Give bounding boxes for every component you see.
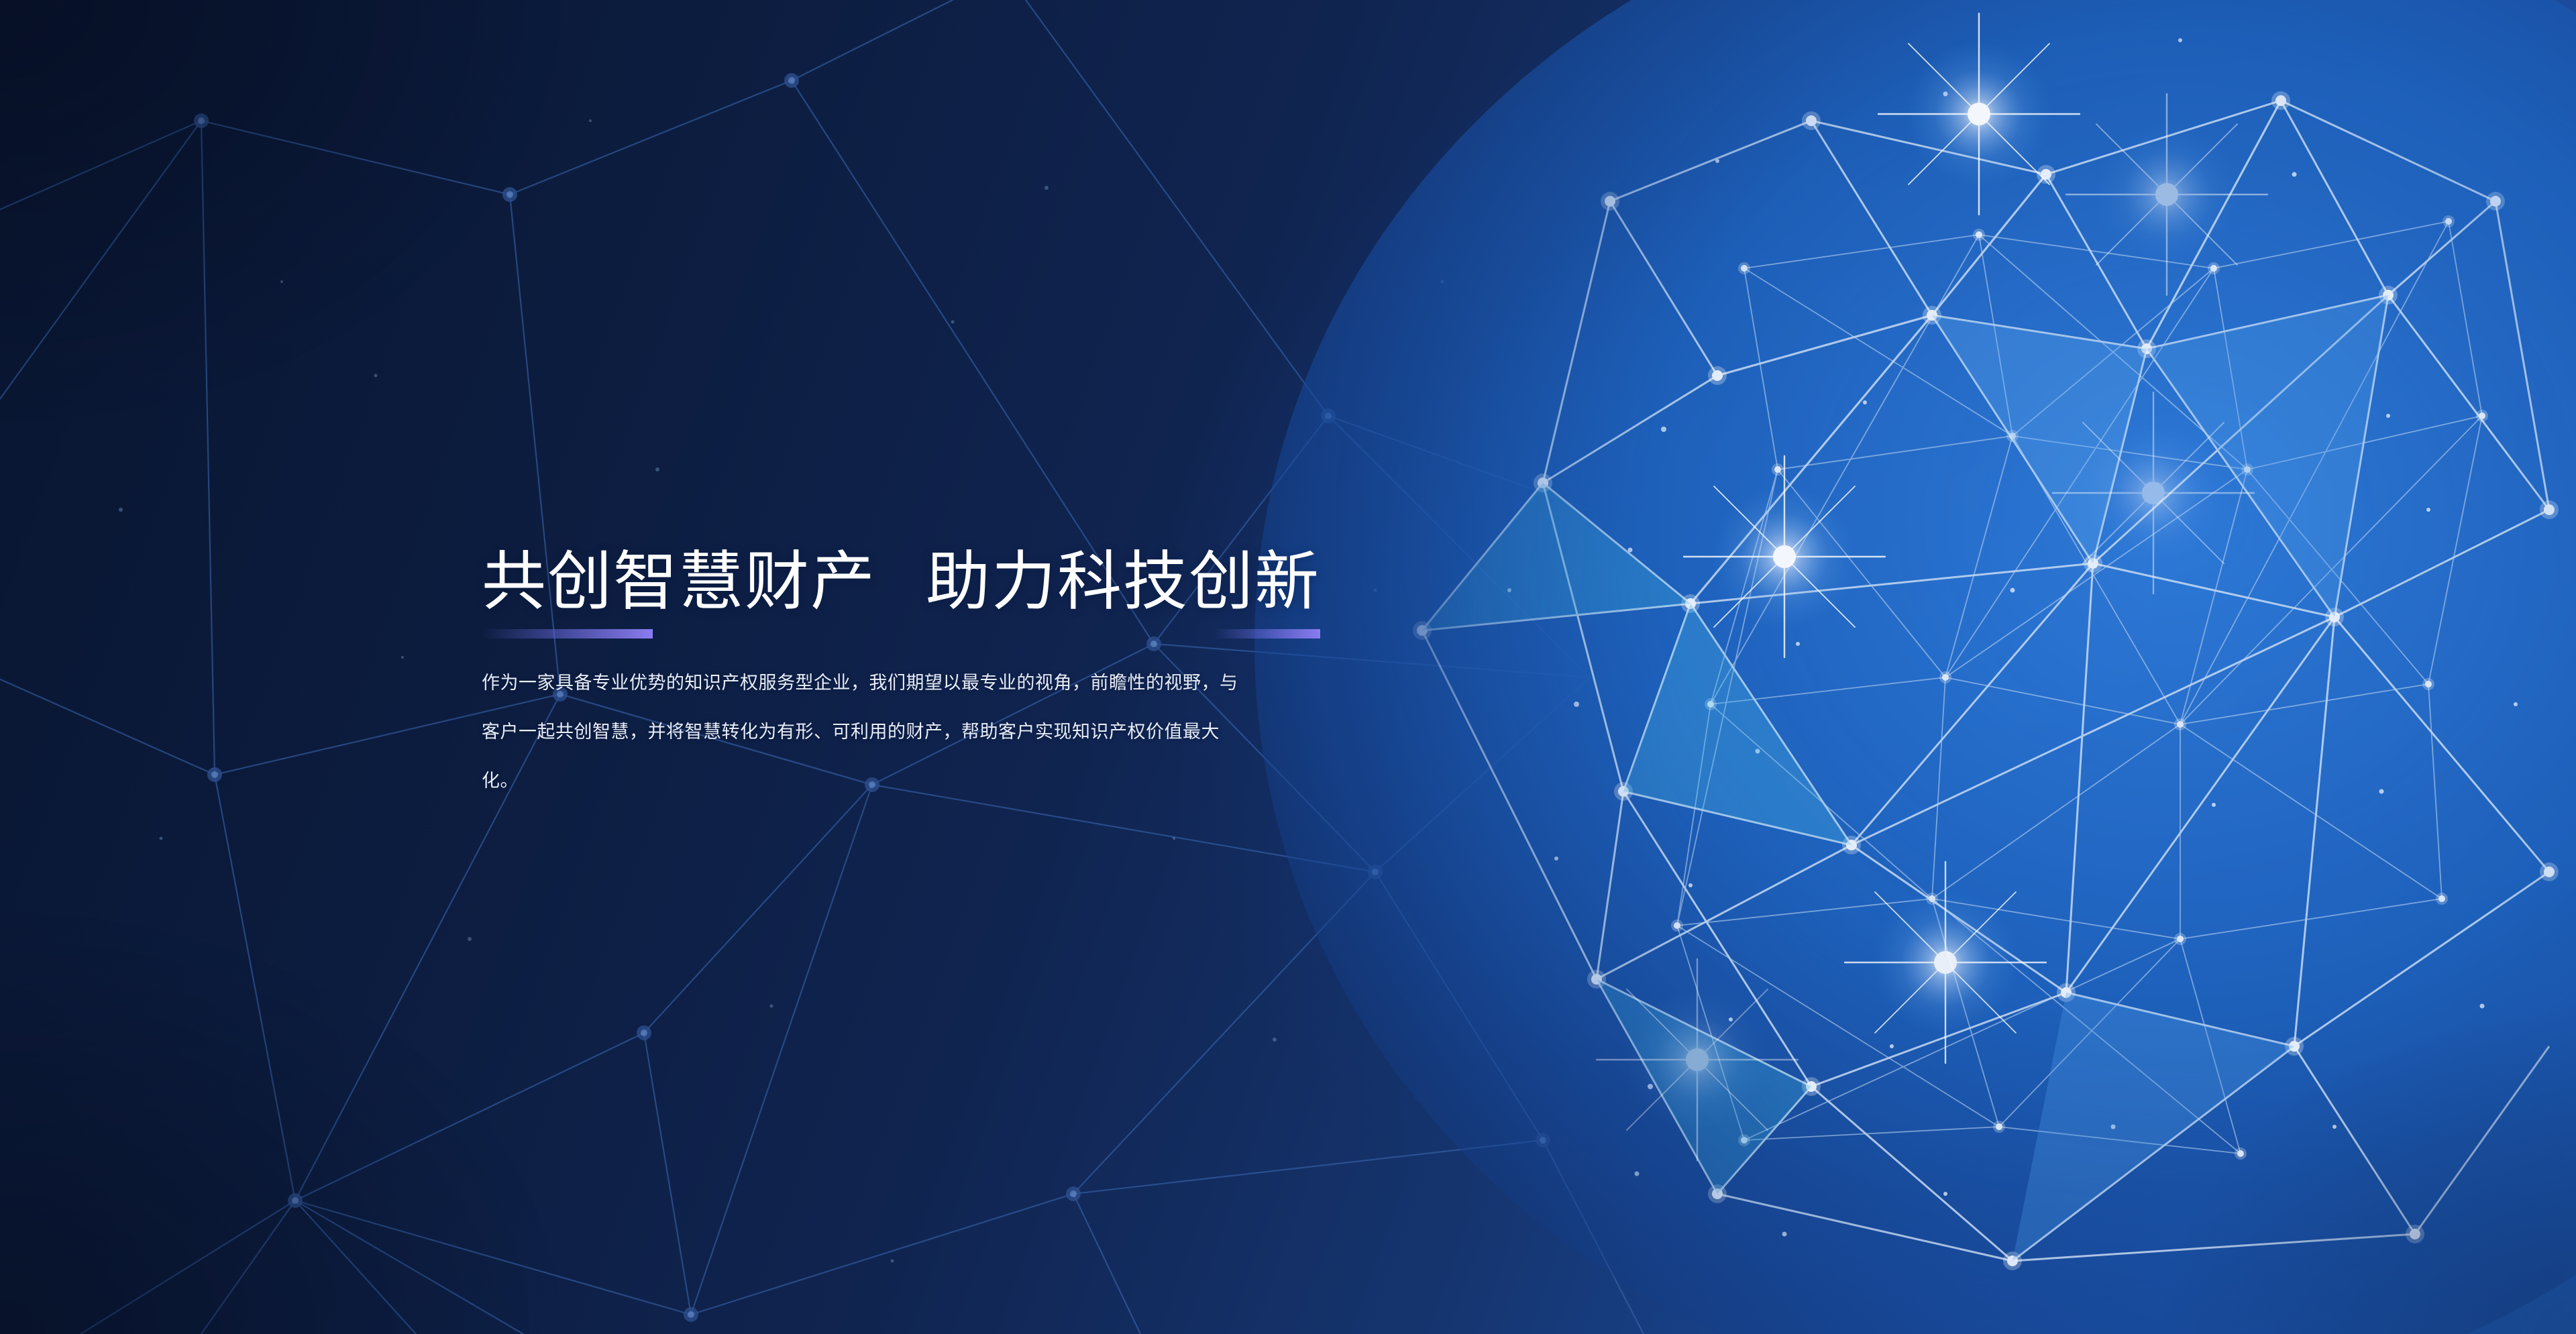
headline-part-one-text: 共创智慧财产 [482,546,876,618]
accent-underline-two [1213,629,1320,638]
headline-part-two-text: 助力科技创新 [926,546,1320,618]
headline-part-one: 共创智慧财产 [482,550,876,638]
hero-description: 作为一家具备专业优势的知识产权服务型企业，我们期望以最专业的视角，前瞻性的视野，… [482,659,1240,805]
hero-banner: 共创智慧财产 助力科技创新 作为一家具备专业优势的知识产权服务型企业，我们期望以… [0,0,2576,1334]
page-title: 共创智慧财产 助力科技创新 [482,550,1434,638]
accent-underline-one [482,629,653,638]
headline-part-two: 助力科技创新 [926,550,1320,638]
hero-copy-block: 共创智慧财产 助力科技创新 作为一家具备专业优势的知识产权服务型企业，我们期望以… [482,550,1434,805]
